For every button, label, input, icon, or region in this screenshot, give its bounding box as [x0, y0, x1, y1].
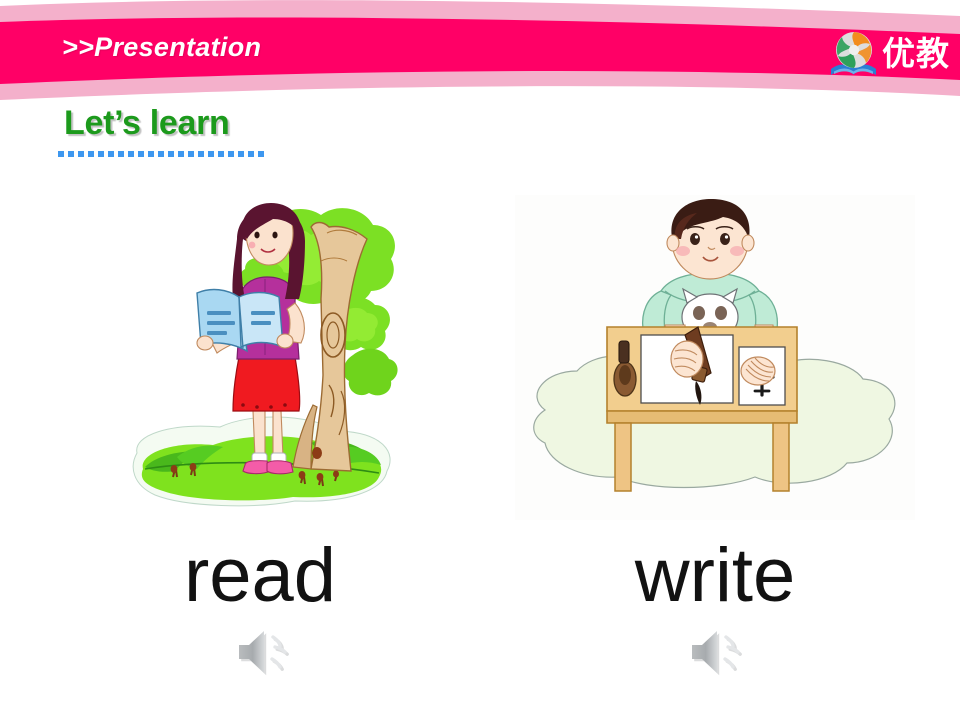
speaker-audio-icon[interactable]	[688, 625, 750, 679]
top-banner: >>Presentation 优教	[0, 0, 960, 112]
girl-leg-right	[273, 411, 283, 457]
sound-wave-3	[272, 659, 280, 667]
word-label-write: write	[500, 533, 930, 619]
boy-eye-left	[690, 233, 700, 245]
girl-skirt	[233, 357, 300, 411]
girl-hand-right	[277, 334, 293, 348]
illustration-girl-reading	[115, 195, 405, 515]
sound-wave-1	[273, 637, 280, 646]
word-card-read: read	[60, 195, 460, 684]
boy-eye-right-glint	[725, 235, 728, 238]
audio-control-write[interactable]	[500, 625, 930, 684]
speaker-body	[692, 631, 717, 673]
logo-wordmark: 优教	[882, 33, 950, 75]
ink-stick	[619, 341, 629, 363]
boy-eye-right	[720, 233, 730, 245]
girl-reading-book-under-tree-image	[115, 195, 405, 515]
illustration-boy-writing	[515, 195, 915, 520]
girl-cheek	[249, 242, 256, 249]
girl-shoe-right	[267, 461, 293, 474]
girl-eye-left	[254, 232, 259, 239]
boy-ear-right	[742, 235, 754, 251]
girl-hand-left	[197, 336, 213, 350]
speaker-body	[239, 631, 264, 673]
boy-eye-left-glint	[695, 235, 698, 238]
boy-cheek-left	[676, 246, 690, 256]
presentation-slide: >>Presentation 优教 Let’s learn	[0, 0, 960, 720]
emblem-center	[849, 45, 859, 55]
desk-leg-right	[773, 423, 789, 491]
word-label-read: read	[60, 533, 460, 619]
heading-dotted-underline	[58, 151, 266, 157]
sound-wave-3	[725, 659, 733, 667]
boy-writing-calligraphy-at-desk-image	[515, 195, 915, 520]
girl-leg-left	[253, 411, 265, 457]
page-title: Let’s learn	[64, 104, 230, 143]
brand-logo: 优教	[826, 27, 944, 83]
banner-title: >>Presentation	[62, 32, 261, 63]
word-card-write: write	[500, 195, 930, 684]
boy-cheek-right	[730, 246, 744, 256]
girl-eye-right	[272, 232, 277, 239]
youjiao-circle-emblem-icon	[826, 27, 882, 83]
trunk-hole	[312, 447, 322, 459]
audio-control-read[interactable]	[60, 625, 460, 684]
speaker-audio-icon[interactable]	[235, 625, 297, 679]
sound-wave-1	[726, 637, 733, 646]
desk-leg-left	[615, 423, 631, 491]
desk-apron	[607, 411, 797, 423]
ink-stone-well	[619, 365, 631, 385]
book-right-page	[239, 293, 283, 348]
